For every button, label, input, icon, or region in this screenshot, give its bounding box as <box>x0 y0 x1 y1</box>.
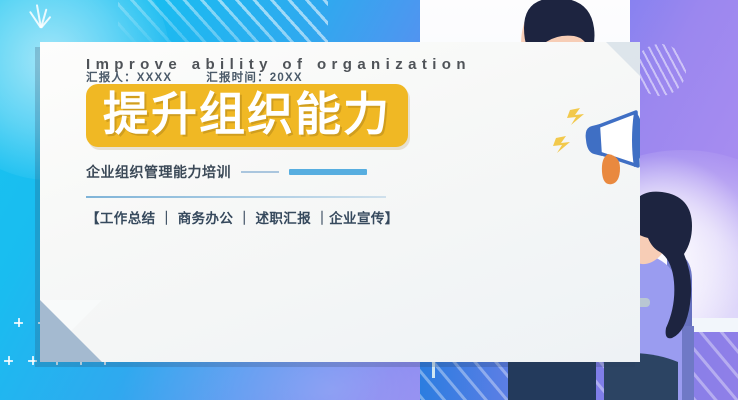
megaphone-spark-icon <box>553 108 584 153</box>
title-plate: 提升组织能力 <box>86 84 408 147</box>
megaphone-icon <box>552 104 640 190</box>
card-fold-corner-bottom-left <box>40 300 102 362</box>
plus-decoration-icon <box>14 318 23 327</box>
plus-decoration-icon <box>4 356 13 365</box>
card-fold-corner-top-right <box>606 42 640 76</box>
presentation-slide: Improve ability of organization 提升组织能力 企… <box>0 0 738 400</box>
title-card: Improve ability of organization 提升组织能力 企… <box>40 42 640 362</box>
subtitle-accent-bar <box>289 169 367 175</box>
line-burst-icon <box>18 0 64 28</box>
title-text-block: Improve ability of organization 提升组织能力 企… <box>40 42 460 227</box>
page-title: 提升组织能力 <box>103 91 391 137</box>
eyebrow-text: Improve ability of organization <box>86 56 460 73</box>
subtitle-rule-thin <box>241 171 279 173</box>
category-tags: 【工作总结 ｜ 商务办公 ｜ 述职汇报 ｜企业宣传】 <box>86 207 460 227</box>
plus-decoration-icon <box>28 356 37 365</box>
subtitle-text: 企业组织管理能力培训 <box>86 162 231 182</box>
horizontal-divider <box>86 196 386 198</box>
subtitle-row: 企业组织管理能力培训 <box>86 162 460 182</box>
megaphone-icon-svg <box>552 104 640 190</box>
